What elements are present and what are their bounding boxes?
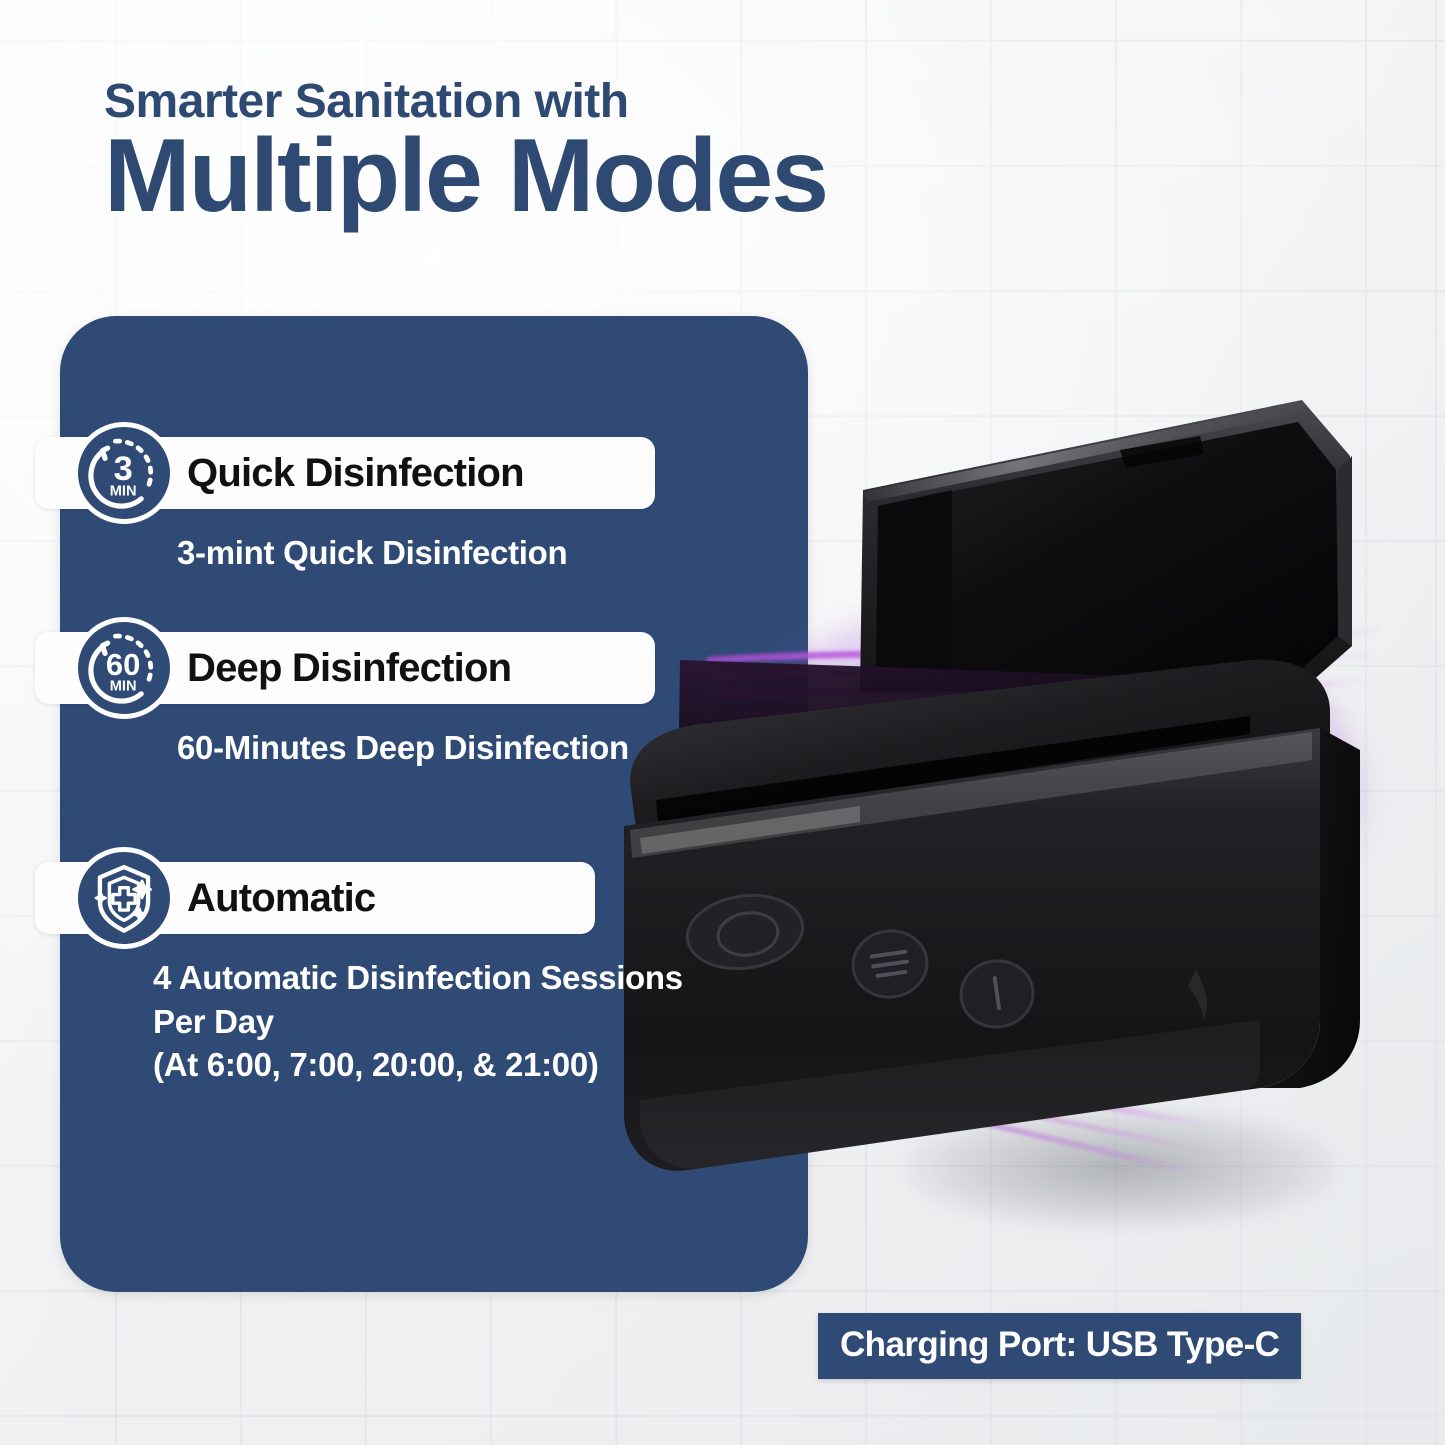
feature-title: Deep Disinfection <box>187 646 511 691</box>
timer-3-min-icon: 3 MIN <box>73 422 175 524</box>
feature-automatic: Automatic 4 Automatic Disinfection Sessi… <box>35 862 713 1087</box>
timer-unit: MIN <box>110 678 137 694</box>
feature-description: 60-Minutes Deep Disinfection <box>177 726 655 770</box>
shield-medical-sparkle-icon <box>73 847 175 949</box>
timer-value: 60 <box>106 647 140 682</box>
feature-quick-disinfection: 3 MIN Quick Disinfection 3-mint Quick Di… <box>35 437 655 575</box>
feature-title-pill: Automatic <box>35 862 595 934</box>
feature-description: 4 Automatic Disinfection Sessions Per Da… <box>153 956 713 1087</box>
feature-description: 3-mint Quick Disinfection <box>177 531 655 575</box>
feature-deep-disinfection: 60 MIN Deep Disinfection 60-Minutes Deep… <box>35 632 655 770</box>
feature-title-pill: 3 MIN Quick Disinfection <box>35 437 655 509</box>
feature-title: Quick Disinfection <box>187 451 524 496</box>
timer-value: 3 <box>114 450 133 488</box>
status-badge-charging-port: Charging Port: USB Type-C <box>818 1313 1301 1379</box>
page-title: Smarter Sanitation with Multiple Modes <box>104 78 827 229</box>
feature-title: Automatic <box>187 876 375 921</box>
timer-60-min-icon: 60 MIN <box>73 617 175 719</box>
headline-line-2: Multiple Modes <box>104 123 827 229</box>
device-lid <box>860 400 1352 692</box>
timer-unit: MIN <box>110 483 137 499</box>
product-image-uv-sanitizer-box <box>560 330 1380 1230</box>
infographic-canvas: Smarter Sanitation with Multiple Modes <box>0 0 1445 1445</box>
feature-title-pill: 60 MIN Deep Disinfection <box>35 632 655 704</box>
